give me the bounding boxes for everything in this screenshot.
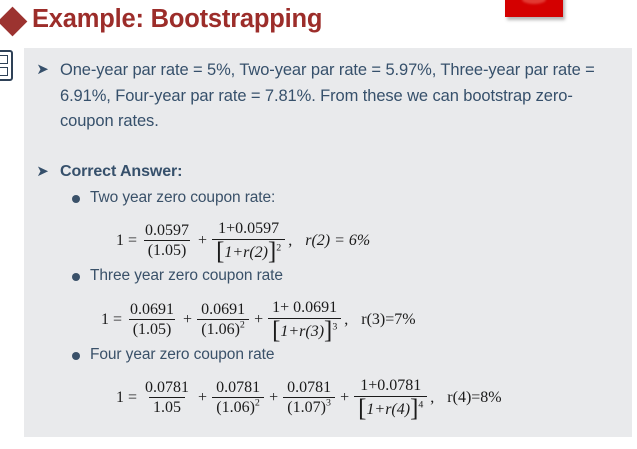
equation-result: r(4)=8% — [434, 389, 501, 407]
fraction-numerator: 0.0597 — [141, 222, 193, 241]
fraction-denominator: (1.07)3 — [283, 397, 335, 417]
section-three-year: Three year zero coupon rate 1 = 0.0691 (… — [36, 266, 606, 286]
fraction-denominator: (1.05) — [129, 319, 176, 339]
fraction-term: 0.0781 1.05 — [141, 379, 193, 418]
arrow-bullet-icon: ➤ — [36, 62, 49, 77]
denominator-base: 1+r(3) — [280, 323, 324, 340]
answer-heading: Correct Answer: — [60, 160, 182, 185]
equation-three-year: 1 = 0.0691 (1.05) + 0.0691 (1.06)2 + 1+ … — [101, 299, 416, 341]
fraction-numerator: 0.0781 — [283, 379, 335, 398]
answer-heading-item: ➤ Correct Answer: — [36, 160, 622, 185]
fraction-numerator: 1+0.0781 — [356, 377, 425, 396]
equation-lhs: 1 = — [116, 389, 139, 407]
page-title: Example: Bootstrapping — [32, 7, 322, 33]
section-label: Two year zero coupon rate: — [90, 188, 275, 208]
section-label: Three year zero coupon rate — [90, 266, 283, 286]
slide-title: Example: Bootstrapping — [0, 0, 322, 40]
fraction-term: 0.0691 (1.05) — [126, 301, 178, 340]
equation-four-year: 1 = 0.0781 1.05 + 0.0781 (1.06)2 + 0.078… — [116, 377, 502, 419]
fraction-term: 0.0781 (1.06)2 — [212, 379, 264, 418]
bracket-close: ] — [410, 395, 418, 422]
exponent: 2 — [240, 320, 245, 331]
denominator-base: 1+r(4) — [366, 401, 410, 418]
fraction-term: 0.0597 (1.05) — [141, 222, 193, 261]
document-icon — [0, 50, 13, 81]
fraction-term: 1+ 0.0691 [1+r(3)]3 — [268, 299, 341, 341]
exponent: 2 — [255, 398, 260, 409]
fraction-denominator: [1+r(3)]3 — [268, 318, 341, 341]
fraction-term: 1+0.0597 [1+r(2)]2 — [212, 220, 285, 262]
fraction-denominator: 1.05 — [149, 397, 185, 417]
exponent: 2 — [276, 243, 281, 254]
red-banner-block — [505, 0, 563, 17]
list-item: Two year zero coupon rate: — [72, 188, 606, 208]
fraction-numerator: 0.0781 — [141, 379, 193, 398]
bracket-open: [ — [216, 238, 224, 265]
exponent: 4 — [418, 400, 423, 411]
plus-operator: + — [180, 311, 195, 329]
plus-operator: + — [337, 389, 352, 407]
dot-bullet-icon — [72, 195, 80, 203]
fraction-denominator: (1.06)2 — [197, 319, 249, 339]
intro-bullet-item: ➤ One-year par rate = 5%, Two-year par r… — [36, 58, 622, 135]
list-item: Four year zero coupon rate — [72, 345, 606, 365]
fraction-term: 0.0781 (1.07)3 — [283, 379, 335, 418]
fraction-denominator: [1+r(2)]2 — [212, 239, 285, 262]
fraction-term: 0.0691 (1.06)2 — [197, 301, 249, 340]
fraction-numerator: 1+0.0597 — [214, 220, 283, 239]
bracket-open: [ — [272, 317, 280, 344]
fraction-numerator: 0.0781 — [212, 379, 264, 398]
dot-bullet-icon — [72, 273, 80, 281]
exponent: 3 — [326, 398, 331, 409]
denominator-base: (1.06) — [216, 399, 255, 416]
section-two-year: Two year zero coupon rate: 1 = 0.0597 (1… — [36, 188, 606, 208]
fraction-numerator: 1+ 0.0691 — [268, 299, 341, 318]
equation-result: r(3)=7% — [348, 311, 415, 329]
section-label: Four year zero coupon rate — [90, 345, 274, 365]
dot-bullet-icon — [72, 352, 80, 360]
denominator-base: (1.06) — [201, 321, 240, 338]
equation-lhs: 1 = — [101, 311, 124, 329]
equation-two-year: 1 = 0.0597 (1.05) + 1+0.0597 [1+r(2)]2 ,… — [116, 220, 370, 262]
denominator-base: (1.07) — [287, 399, 326, 416]
fraction-denominator: (1.05) — [144, 240, 191, 260]
bracket-close: ] — [324, 317, 332, 344]
red-banner-gloss — [522, 0, 546, 4]
fraction-numerator: 0.0691 — [126, 301, 178, 320]
section-four-year: Four year zero coupon rate 1 = 0.0781 1.… — [36, 345, 606, 365]
fraction-term: 1+0.0781 [1+r(4)]4 — [354, 377, 427, 419]
list-item: Three year zero coupon rate — [72, 266, 606, 286]
bracket-close: ] — [268, 238, 276, 265]
fraction-denominator: [1+r(4)]4 — [354, 396, 427, 419]
slide-content-panel: ➤ One-year par rate = 5%, Two-year par r… — [24, 48, 632, 437]
fraction-numerator: 0.0691 — [197, 301, 249, 320]
bracket-open: [ — [358, 395, 366, 422]
arrow-bullet-icon: ➤ — [36, 164, 49, 179]
plus-operator: + — [195, 389, 210, 407]
plus-operator: + — [251, 311, 266, 329]
equation-lhs: 1 = — [116, 232, 139, 250]
fraction-denominator: (1.06)2 — [212, 397, 264, 417]
intro-text: One-year par rate = 5%, Two-year par rat… — [60, 58, 622, 135]
denominator-base: 1+r(2) — [224, 244, 268, 261]
plus-operator: + — [195, 232, 210, 250]
equation-result: r(2) = 6% — [292, 232, 370, 250]
exponent: 3 — [332, 322, 337, 333]
plus-operator: + — [266, 389, 281, 407]
diamond-bullet-icon — [0, 6, 27, 36]
